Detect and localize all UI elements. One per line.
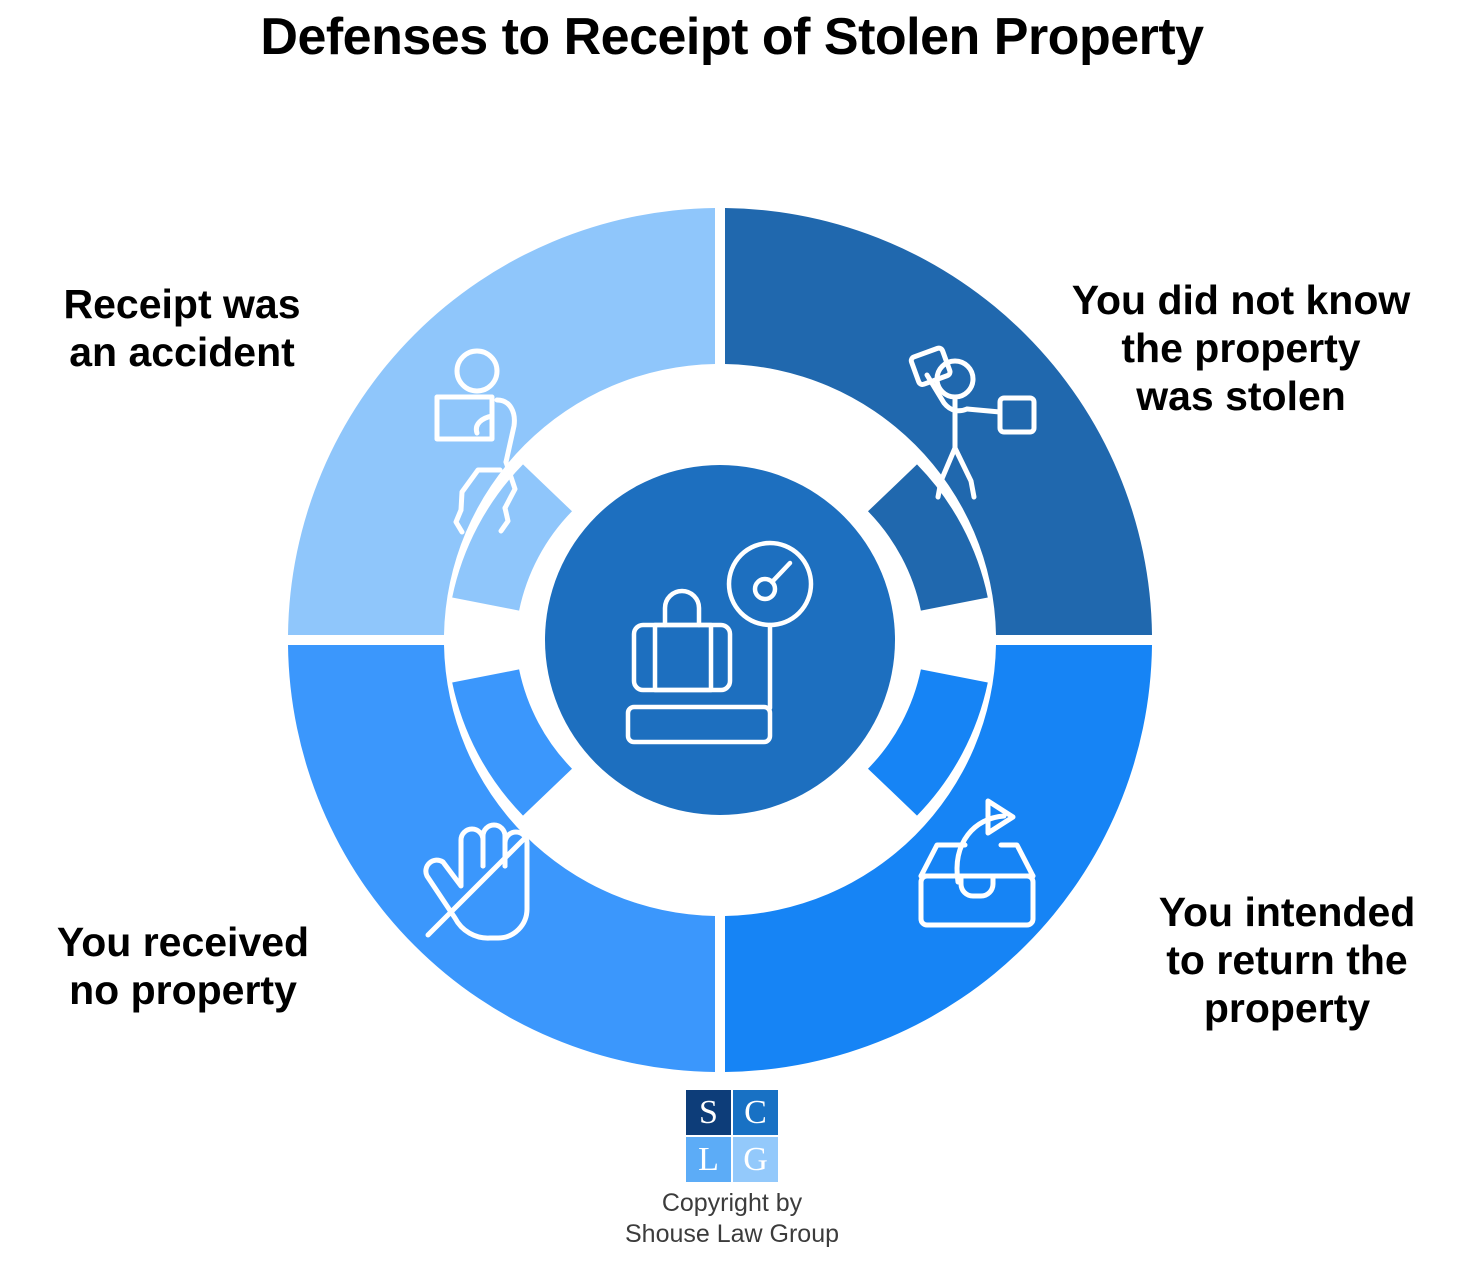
inner-arc-bottom-right: [868, 669, 988, 815]
segment-label-line: no property: [8, 967, 358, 1015]
person-juggling-boxes-icon: [910, 347, 1034, 497]
segment-label-line: an accident: [12, 329, 352, 377]
segment-label-line: property: [1122, 985, 1452, 1033]
segment-top-left-arc[interactable]: [288, 208, 715, 635]
logo-letter-l: L: [686, 1137, 731, 1182]
segment-label-line: to return the: [1122, 937, 1452, 985]
segment-label-line: You intended: [1122, 889, 1452, 937]
copyright-notice: Copyright by Shouse Law Group: [625, 1188, 839, 1249]
segment-label-top-right: You did not know the property was stolen: [1026, 277, 1456, 421]
segment-bottom-right-arc[interactable]: [725, 645, 1152, 1072]
hub-circle[interactable]: [545, 465, 895, 815]
segment-label-line: You received: [8, 919, 358, 967]
hand-slashed-icon: [426, 825, 530, 938]
page-title: Defenses to Receipt of Stolen Property: [0, 8, 1464, 66]
inner-arc-top-right: [868, 464, 988, 610]
person-carrying-box-icon: [437, 351, 515, 532]
copyright-line: Copyright by: [625, 1188, 839, 1219]
segment-label-line: was stolen: [1026, 373, 1456, 421]
segment-label-bottom-right: You intended to return the property: [1122, 889, 1452, 1033]
logo-letter-g: G: [733, 1137, 778, 1182]
segment-label-bottom-left: You received no property: [8, 919, 358, 1015]
luggage-on-scale-icon: [628, 543, 811, 742]
logo-letter-s: S: [686, 1090, 731, 1135]
segment-label-line: Receipt was: [12, 281, 352, 329]
outbox-return-arrow-icon: [921, 801, 1033, 925]
segment-label-line: You did not know: [1026, 277, 1456, 325]
logo-letter-c: C: [733, 1090, 778, 1135]
inner-arc-top-left: [452, 464, 572, 610]
footer: S C L G Copyright by Shouse Law Group: [0, 1090, 1464, 1249]
segment-label-top-left: Receipt was an accident: [12, 281, 352, 377]
inner-arc-bottom-left: [452, 669, 572, 815]
segment-top-right-arc[interactable]: [725, 208, 1152, 635]
shouse-law-group-logo: S C L G: [686, 1090, 778, 1182]
copyright-line: Shouse Law Group: [625, 1219, 839, 1250]
segment-label-line: the property: [1026, 325, 1456, 373]
